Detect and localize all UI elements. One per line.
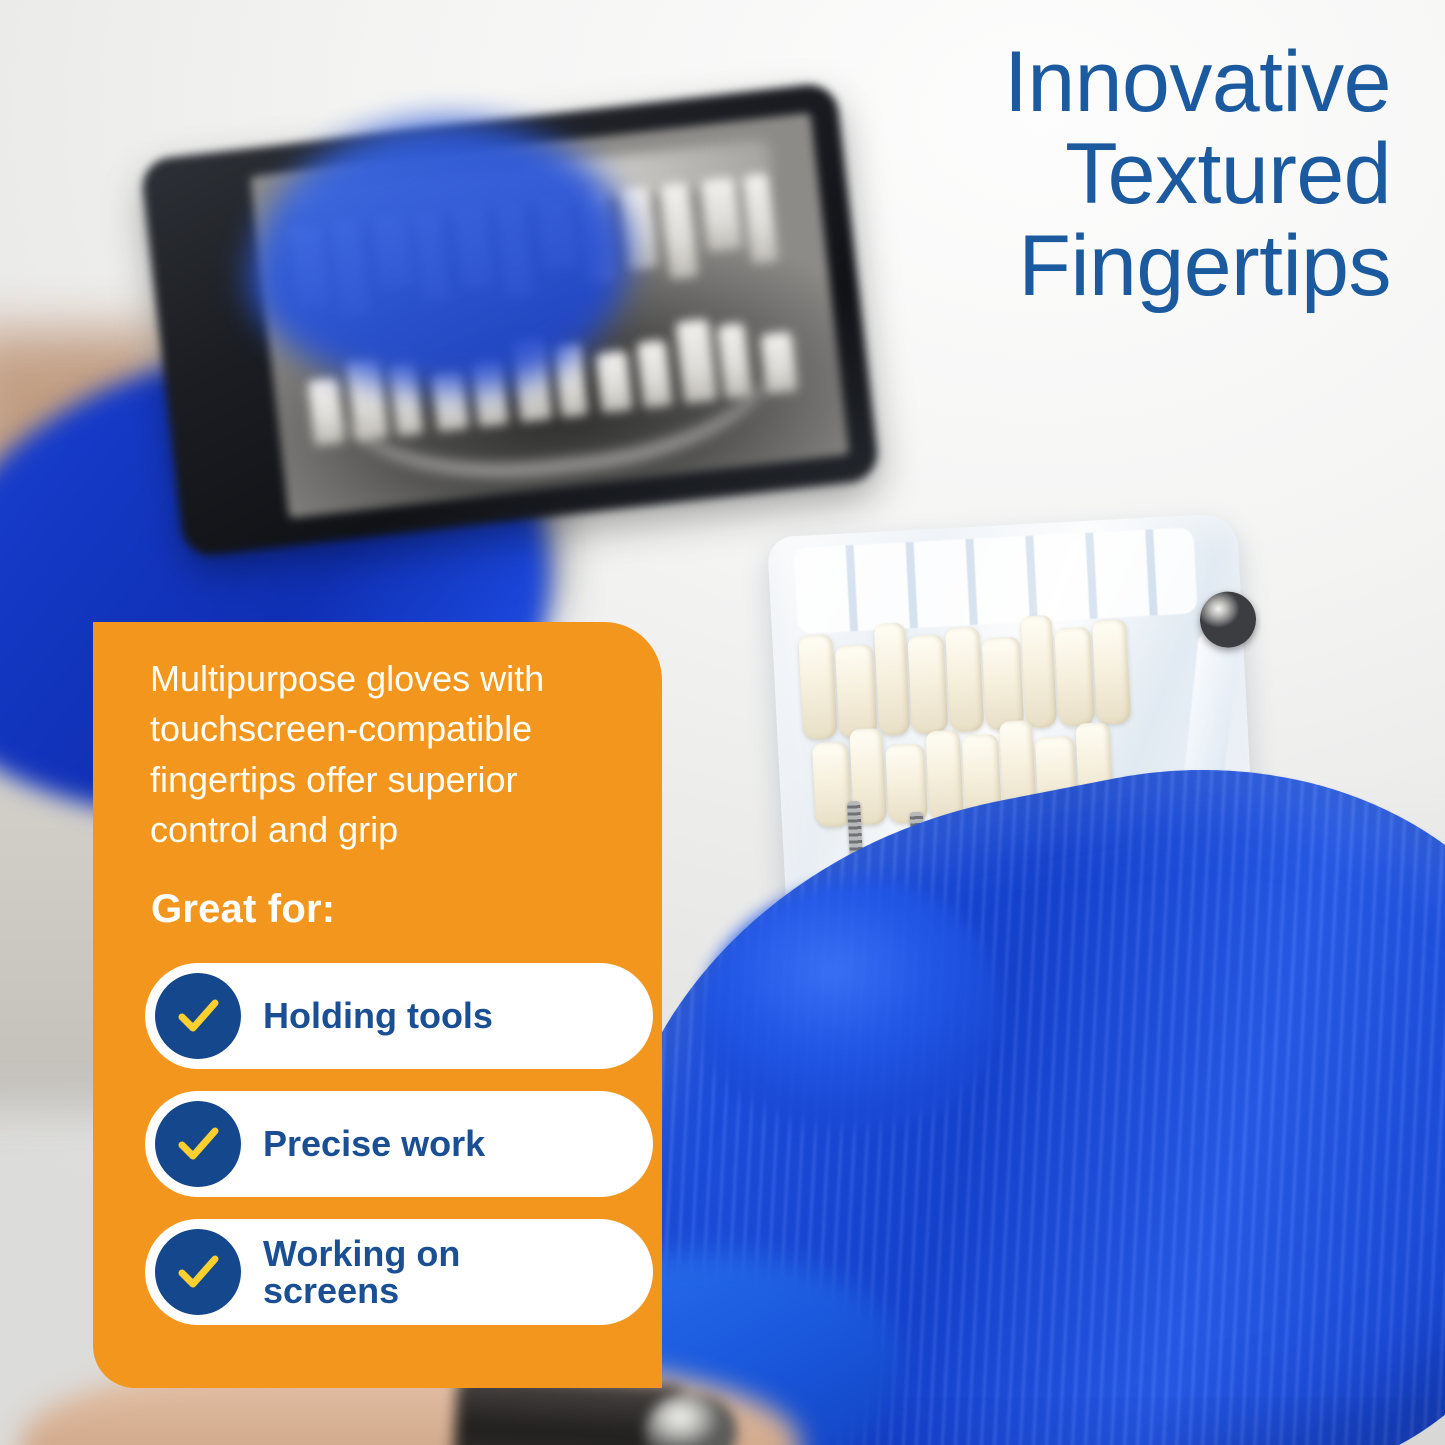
tooth — [1092, 619, 1131, 725]
tooth — [907, 634, 948, 734]
tooth — [798, 634, 837, 740]
check-icon — [155, 1229, 241, 1315]
benefit-label: Holding tools — [263, 997, 493, 1034]
tooth — [1054, 627, 1095, 727]
benefit-list: Holding toolsPrecise workWorking on scre… — [145, 963, 653, 1347]
feature-panel: Multipurpose gloves with touchscreen-com… — [93, 622, 662, 1388]
panel-description: Multipurpose gloves with touchscreen-com… — [150, 654, 620, 856]
benefit-label: Precise work — [263, 1125, 485, 1162]
check-icon — [155, 973, 241, 1059]
tooth — [812, 742, 852, 828]
tooth — [1021, 615, 1058, 728]
page-title: Innovative Textured Fingertips — [631, 36, 1391, 312]
benefit-pill[interactable]: Working on screens — [145, 1219, 653, 1325]
tooth — [925, 730, 964, 822]
great-for-heading: Great for: — [151, 887, 335, 932]
tooth — [982, 637, 1025, 731]
tooth — [874, 623, 911, 736]
product-feature-poster: Innovative Textured Fingertips Multipurp… — [0, 0, 1445, 1445]
tooth — [945, 627, 984, 733]
tooth — [835, 644, 878, 738]
benefit-pill[interactable]: Precise work — [145, 1091, 653, 1197]
benefit-pill[interactable]: Holding tools — [145, 963, 653, 1069]
check-icon — [155, 1101, 241, 1187]
benefit-label: Working on screens — [263, 1235, 460, 1310]
